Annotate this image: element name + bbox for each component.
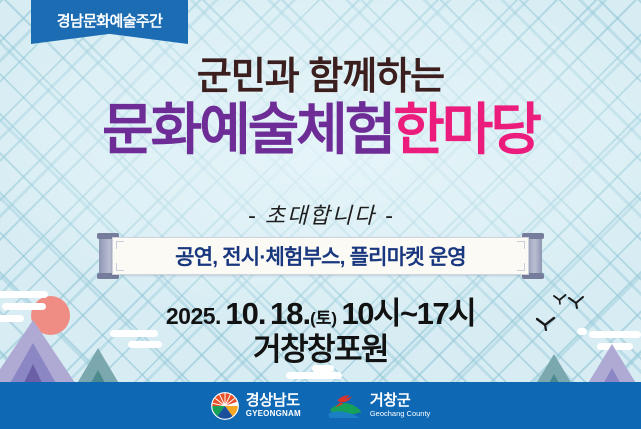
logo-geochang: 거창군 Geochang County (327, 393, 430, 419)
title-line-2: 문화예술체험한마당 (0, 102, 641, 158)
geochang-emblem-icon (327, 393, 363, 419)
gyeongnam-emblem-icon (211, 392, 239, 420)
footer-logo-row: 경상남도 GYEONGNAM 거창군 Geochang County (0, 382, 641, 429)
scroll-corner-mark (116, 263, 124, 271)
title-line-1: 군민과 함께하는 (0, 58, 641, 96)
scroll-banner: 공연, 전시·체험부스, 플리마켓 운영 (99, 234, 542, 278)
logo-geochang-text: 거창군 Geochang County (370, 393, 430, 418)
title-part-pink: 한마당 (393, 98, 539, 161)
invitation-line: - 초대합니다 - (0, 198, 641, 230)
invitation-dash-right: - (385, 204, 393, 229)
logo-gyeongnam: 경상남도 GYEONGNAM (211, 392, 301, 420)
event-poster: 경남문화예술주간 군민과 함께하는 문화예술체험한마당 - 초대합니다 - 공연… (0, 0, 641, 429)
title-block: 군민과 함께하는 문화예술체험한마당 (0, 58, 641, 158)
invitation-dash-left: - (248, 204, 256, 229)
scroll-corner-mark (517, 241, 525, 249)
invitation-text: 초대합니다 (265, 204, 376, 229)
event-venue: 거창창포원 (0, 324, 641, 369)
logo-gyeongnam-name-ko: 경상남도 (246, 393, 301, 408)
ribbon-label: 경남문화예술주간 (57, 10, 163, 31)
logo-geochang-name-en: Geochang County (370, 410, 430, 418)
scroll-paper: 공연, 전시·체험부스, 플리마켓 운영 (112, 237, 529, 275)
logo-gyeongnam-text: 경상남도 GYEONGNAM (246, 393, 301, 418)
logo-gyeongnam-name-en: GYEONGNAM (246, 410, 301, 418)
scroll-corner-mark (517, 263, 525, 271)
title-part-purple: 문화예술체험 (102, 98, 393, 161)
logo-geochang-name-ko: 거창군 (370, 393, 430, 408)
scroll-corner-mark (116, 241, 124, 249)
scroll-banner-text: 공연, 전시·체험부스, 플리마켓 운영 (175, 241, 466, 271)
